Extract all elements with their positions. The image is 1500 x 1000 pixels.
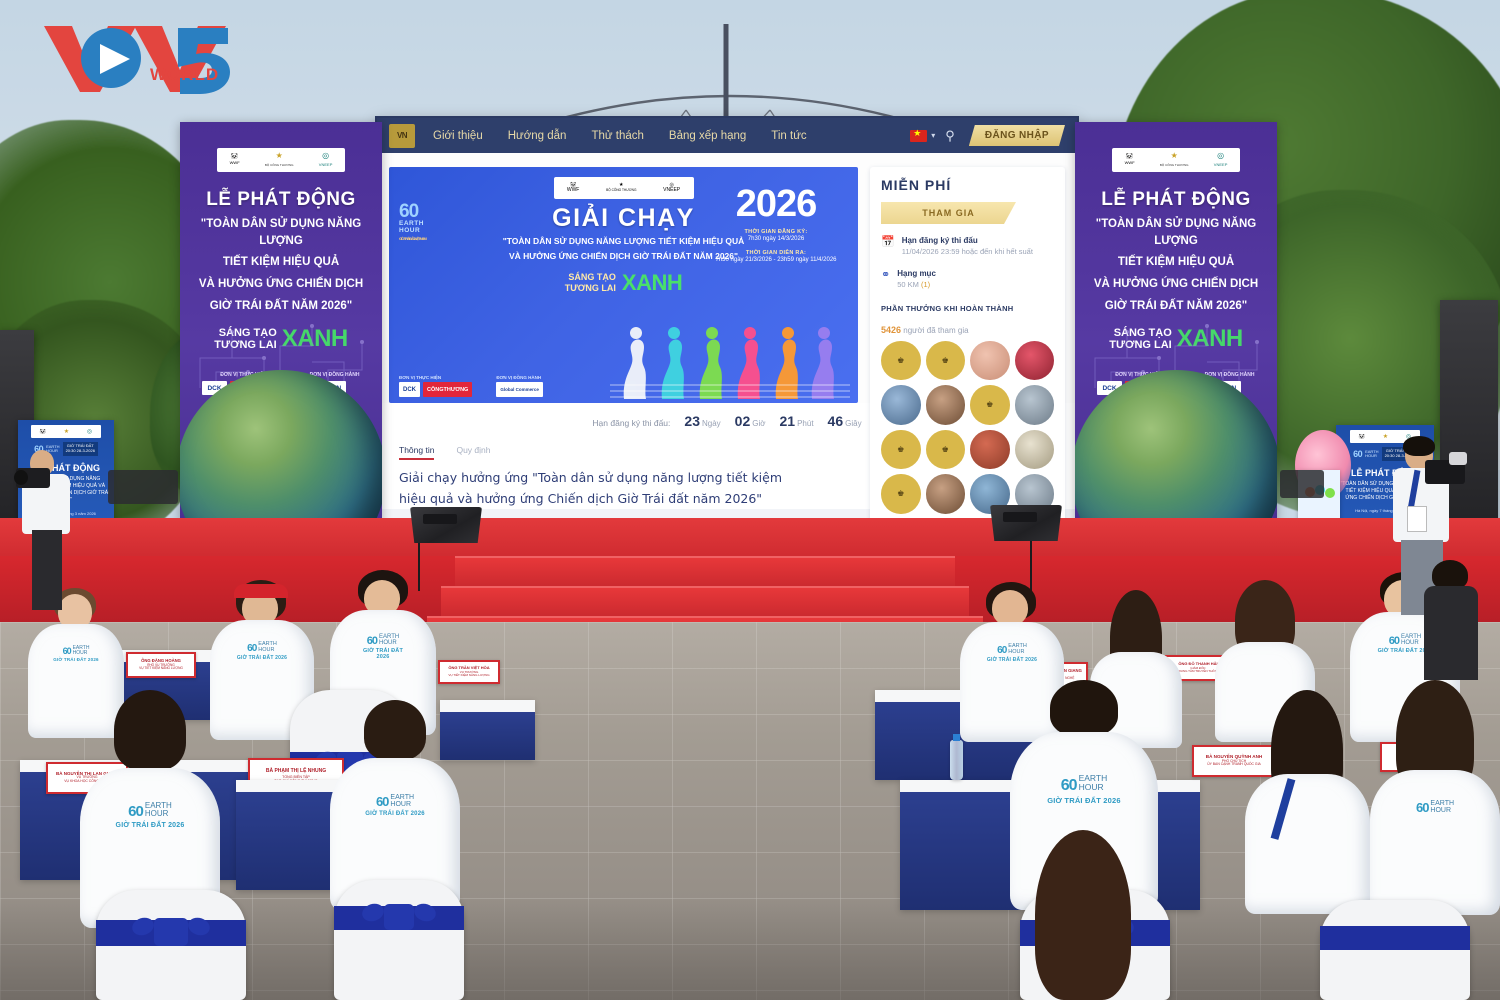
- category-row: ⚭ Hạng mục 50 KM (1): [881, 269, 1054, 290]
- led-stage-screen: VN Giới thiệu Hướng dẫn Thử thách Bảng x…: [377, 118, 1077, 518]
- vneep-logo-icon: ◎VNEEP: [319, 152, 333, 169]
- nav-item-huong-dan[interactable]: Hướng dẫn: [508, 130, 567, 142]
- banner-slogan-2: TƯƠNG LAI: [565, 283, 616, 293]
- avatar[interactable]: [1015, 430, 1055, 470]
- countdown-hours-unit: Giờ: [752, 419, 765, 428]
- banner-sponsors: ĐƠN VỊ THỰC HIỆN DCK CÔNGTHƯƠNG ĐƠN VỊ Đ…: [399, 375, 543, 397]
- moit-logo-icon: ★BỘ CÔNG THƯƠNG: [1160, 152, 1189, 169]
- event-photo: VN Giới thiệu Hướng dẫn Thử thách Bảng x…: [0, 0, 1500, 1000]
- avatar[interactable]: [926, 385, 966, 425]
- registration-card: MIỄN PHÍ THAM GIA 📅 Hạn đăng ký thi đấu …: [870, 167, 1065, 518]
- calendar-icon: 📅: [881, 237, 895, 257]
- press-badge: [1407, 506, 1427, 532]
- standee-quote-3: VÀ HƯỞNG ỨNG CHIẾN DỊCH: [1075, 276, 1277, 293]
- earth-hour-number: 60: [1353, 449, 1362, 459]
- avatar[interactable]: [1015, 385, 1055, 425]
- banner-slogan-xanh: XANH: [622, 270, 682, 296]
- banner-partner-logos: 🐼WWF ★BỘ CÔNG THƯƠNG ◎VNEEP: [554, 177, 694, 199]
- moit-logo-icon: ★: [1383, 433, 1388, 440]
- run-time-value: 7h30 ngày 21/3/2026 - 23h59 ngày 11/4/20…: [706, 257, 846, 263]
- participants-label: người đã tham gia: [903, 326, 968, 335]
- tab-thong-tin[interactable]: Thông tin: [399, 445, 434, 460]
- sponsor-congthuong-logo: CÔNGTHƯƠNG: [423, 382, 472, 397]
- standee-left: 🐼WWF ★BỘ CÔNG THƯƠNG ◎VNEEP LỄ PHÁT ĐỘNG…: [180, 122, 382, 522]
- countdown-minutes-unit: Phút: [797, 419, 813, 428]
- banquet-chair: [1320, 900, 1470, 1000]
- standee-partner-logos: 🐼WWF ★BỘ CÔNG THƯƠNG ◎VNEEP: [217, 148, 345, 172]
- standee-quote-1: "TOÀN DÂN SỬ DỤNG NĂNG LƯỢNG: [1075, 216, 1277, 249]
- wwf-logo-icon: 🐼WWF: [1125, 154, 1135, 167]
- site-logo-icon[interactable]: VN: [389, 124, 415, 148]
- participant-avatars: ♚ ♚ ♚ ♚ ♚ ♚: [881, 341, 1054, 514]
- svg-text:WORLD: WORLD: [150, 65, 219, 84]
- speaker-grill: [423, 514, 457, 524]
- audience-member: [995, 830, 1160, 1000]
- medal-icon: ⚭: [881, 270, 890, 290]
- participants-count: 5426: [881, 325, 901, 335]
- banner-exec-label: ĐƠN VỊ THỰC HIỆN: [399, 375, 472, 380]
- parked-motorbike: [1280, 470, 1324, 498]
- vneep-logo-icon: ◎VNEEP: [663, 183, 680, 194]
- avatar[interactable]: [970, 341, 1010, 381]
- screen-content: 🐼WWF ★BỘ CÔNG THƯƠNG ◎VNEEP 60 EARTH HOU…: [377, 153, 1077, 403]
- banquet-chair: [334, 880, 464, 1000]
- deadline-value: 11/04/2026 23:59 hoặc đến khi hết suất: [902, 247, 1033, 257]
- stage-step: [455, 556, 955, 586]
- name-card: ÔNG TRẦN VIỆT HÒA VỤ TRƯỞNG VỤ TIẾT KIỆM…: [438, 660, 500, 684]
- sponsor-dck-logo: DCK: [399, 382, 420, 397]
- red-headband: [234, 584, 288, 598]
- standee-quote-2: TIẾT KIỆM HIỆU QUẢ: [1075, 254, 1277, 271]
- vneep-logo-icon: ◎VNEEP: [1214, 152, 1228, 169]
- name-card: ÔNG ĐẶNG HOÀNG PHÓ VỤ TRƯỞNG VỤ TIẾT KIỆ…: [126, 652, 196, 678]
- race-hero-banner: 🐼WWF ★BỘ CÔNG THƯƠNG ◎VNEEP 60 EARTH HOU…: [389, 167, 858, 403]
- mini-standee-logos: 🐼 ★ ◎: [31, 425, 101, 438]
- standee-partner-logos: 🐼WWF ★BỘ CÔNG THƯƠNG ◎VNEEP: [1112, 148, 1240, 172]
- photographer: [12, 450, 78, 610]
- nav-item-gioi-thieu[interactable]: Giới thiệu: [433, 130, 483, 142]
- participants-section: 5426 người đã tham gia ♚ ♚ ♚ ♚ ♚: [881, 325, 1054, 514]
- avatar[interactable]: ♚: [926, 341, 966, 381]
- banner-exec-group: ĐƠN VỊ THỰC HIỆN DCK CÔNGTHƯƠNG: [399, 375, 472, 397]
- standee-quote-4: GIỜ TRÁI ĐẤT NĂM 2026": [180, 298, 382, 315]
- wwf-logo-icon: 🐼WWF: [230, 154, 240, 167]
- standee-quote-4: GIỜ TRÁI ĐẤT NĂM 2026": [1075, 298, 1277, 315]
- avatar[interactable]: ♚: [881, 474, 921, 514]
- banquet-chair: [96, 890, 246, 1000]
- countdown-days-unit: Ngày: [702, 419, 721, 428]
- avatar[interactable]: ♚: [926, 430, 966, 470]
- category-value: 50 KM (1): [897, 280, 936, 290]
- countdown-hours: 02: [735, 413, 751, 429]
- deadline-title: Hạn đăng ký thi đấu: [902, 236, 1033, 245]
- standee-quote-3: VÀ HƯỞNG ỨNG CHIẾN DỊCH: [180, 276, 382, 293]
- site-navbar: VN Giới thiệu Hướng dẫn Thử thách Bảng x…: [377, 118, 1077, 153]
- countdown-minutes: 21: [780, 413, 796, 429]
- tab-quy-dinh[interactable]: Quy định: [456, 445, 490, 460]
- sponsor-global-logo: Global Commerce: [496, 382, 543, 397]
- runner-silhouettes: [610, 319, 850, 403]
- standee-quote-2: TIẾT KIỆM HIỆU QUẢ: [180, 254, 382, 271]
- avatar[interactable]: ♚: [881, 341, 921, 381]
- stage-step: [441, 586, 969, 616]
- nav-item-bang-xep-hang[interactable]: Bảng xếp hạng: [669, 130, 746, 142]
- vneep-logo-icon: ◎: [87, 428, 92, 435]
- avatar[interactable]: [881, 385, 921, 425]
- stage-monitor-speaker: [410, 507, 482, 543]
- vov5-watermark-logo: WORLD: [38, 18, 234, 103]
- avatar[interactable]: [926, 474, 966, 514]
- avatar[interactable]: [1015, 341, 1055, 381]
- category-title: Hạng mục: [897, 269, 936, 278]
- wwf-logo-icon: 🐼: [1359, 434, 1365, 440]
- join-button[interactable]: THAM GIA: [881, 202, 1016, 224]
- chevron-down-icon[interactable]: ▾: [931, 131, 935, 140]
- stage-platform-top: [0, 518, 1500, 558]
- countdown-seconds: 46: [828, 413, 844, 429]
- banner-year: 2026: [706, 185, 846, 223]
- standee-heading: LỄ PHÁT ĐỘNG: [180, 189, 382, 211]
- audience-member: 60EARTHHOUR: [1370, 680, 1500, 910]
- stage-monitor-speaker: [990, 505, 1062, 541]
- deadline-row: 📅 Hạn đăng ký thi đấu 11/04/2026 23:59 h…: [881, 236, 1054, 257]
- audience-member: 60EARTHHOUR GIỜ TRÁI ĐẤT 2026: [330, 700, 460, 910]
- reward-label: PHẦN THƯỞNG KHI HOÀN THÀNH: [881, 304, 1054, 313]
- speaker-grill: [1003, 512, 1037, 522]
- run-time-label: THỜI GIAN DIỄN RA:: [706, 250, 846, 256]
- reg-time-label: THỜI GIAN ĐĂNG KÝ:: [706, 229, 846, 235]
- vietnam-flag-icon[interactable]: [910, 130, 927, 142]
- login-button[interactable]: ĐĂNG NHẬP: [969, 125, 1065, 146]
- parked-motorbike: [108, 470, 178, 504]
- avatar[interactable]: ♚: [970, 385, 1010, 425]
- moit-logo-icon: ★BỘ CÔNG THƯƠNG: [265, 152, 294, 169]
- price-label: MIỄN PHÍ: [881, 177, 1054, 193]
- banner-year-block: 2026 THỜI GIAN ĐĂNG KÝ: 7h30 ngày 14/3/2…: [706, 185, 846, 263]
- banner-slogan-1: SÁNG TẠO: [565, 272, 616, 282]
- search-icon[interactable]: ⚲: [945, 128, 955, 144]
- avatar[interactable]: [970, 430, 1010, 470]
- banner-partner-label: ĐƠN VỊ ĐỒNG HÀNH: [496, 375, 543, 380]
- camera-lens-icon: [14, 470, 28, 485]
- wwf-logo-icon: 🐼WWF: [567, 183, 580, 194]
- water-bottle: [950, 740, 963, 780]
- banner-partner-group: ĐƠN VỊ ĐỒNG HÀNH Global Commerce: [496, 375, 543, 397]
- banner-slogan: SÁNG TẠO TƯƠNG LAI XANH: [399, 270, 848, 296]
- avatar[interactable]: ♚: [881, 430, 921, 470]
- countdown-label: Hạn đăng ký thi đấu:: [592, 418, 670, 428]
- reg-time-value: 7h30 ngày 14/3/2026: [706, 236, 846, 242]
- wwf-logo-icon: 🐼: [40, 429, 46, 435]
- camera-mic-icon: [1449, 452, 1467, 465]
- standee-heading: LỄ PHÁT ĐỘNG: [1075, 189, 1277, 211]
- moit-logo-icon: ★BỘ CÔNG THƯƠNG: [606, 183, 636, 194]
- audience-member: 60EARTHHOUR GIỜ TRÁI ĐẤT 2026: [80, 690, 220, 920]
- countdown-seconds-unit: Giây: [845, 419, 861, 428]
- crew-member: [1420, 560, 1480, 680]
- nav-item-tin-tuc[interactable]: Tin tức: [771, 130, 806, 142]
- standee-right: 🐼WWF ★BỘ CÔNG THƯƠNG ◎VNEEP LỄ PHÁT ĐỘNG…: [1075, 122, 1277, 522]
- participants-header: 5426 người đã tham gia: [881, 325, 1054, 335]
- moit-logo-icon: ★: [64, 428, 69, 435]
- earth-hour-hour: HOUR: [1365, 453, 1377, 458]
- nav-item-thu-thach[interactable]: Thử thách: [591, 130, 643, 142]
- earth-hour-logo: 60 EARTH HOUR GIỜ TRÁI ĐẤT / VIỆT NAM: [399, 203, 447, 242]
- countdown-days: 23: [684, 413, 700, 429]
- audience-member: [1245, 690, 1370, 910]
- standee-quote-1: "TOÀN DÂN SỬ DỤNG NĂNG LƯỢNG: [180, 216, 382, 249]
